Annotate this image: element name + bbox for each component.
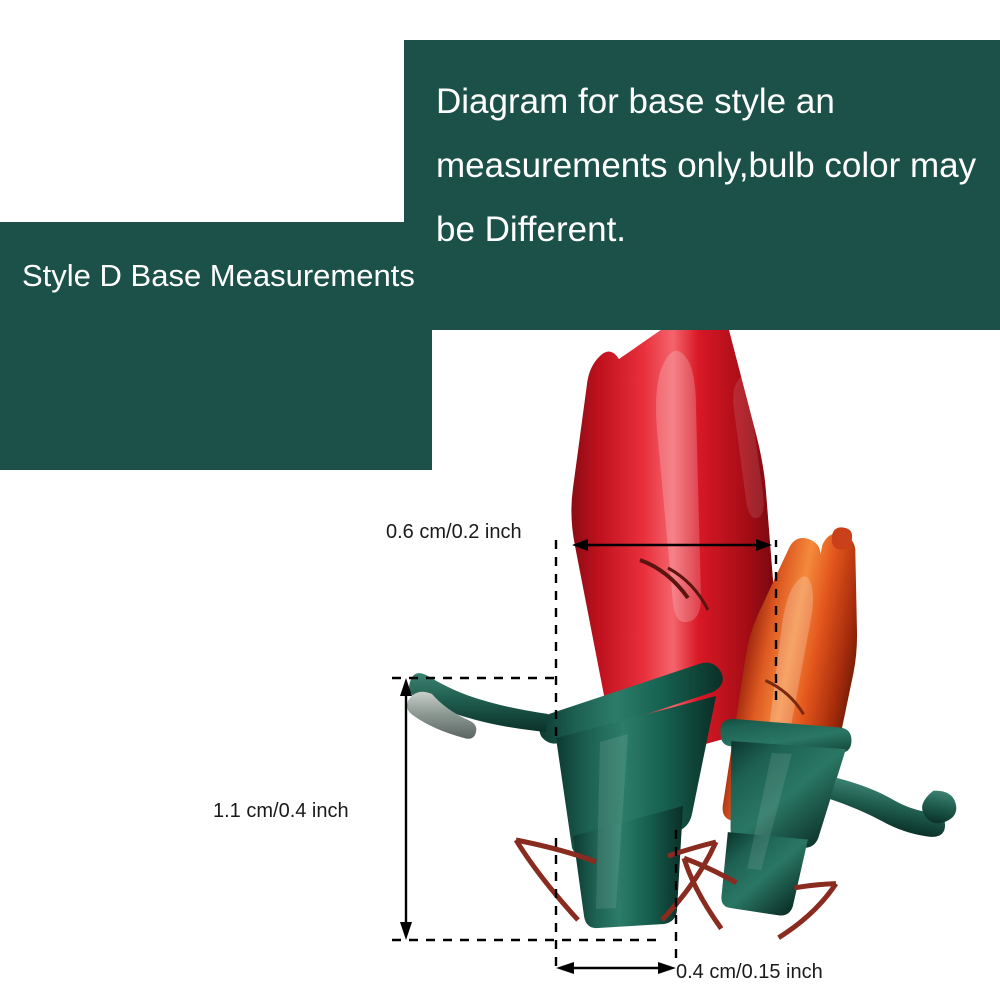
- arrowhead-bottom-right: [658, 962, 676, 974]
- measurement-label-base-height: 1.1 cm/0.4 inch: [213, 800, 349, 823]
- diagram-canvas: Diagram for base style an measurements o…: [0, 0, 1000, 1000]
- banner-top-text: Diagram for base style an measurements o…: [436, 70, 984, 262]
- measurement-label-base-bottom-width: 0.4 cm/0.15 inch: [676, 961, 823, 984]
- arrowhead-bottom-left: [556, 962, 574, 974]
- arrowhead-height-bottom: [400, 922, 412, 940]
- measurement-label-base-top-width: 0.6 cm/0.2 inch: [386, 521, 522, 544]
- bulb-large: [407, 282, 783, 928]
- banner-left-text: Style D Base Measurements: [22, 250, 422, 302]
